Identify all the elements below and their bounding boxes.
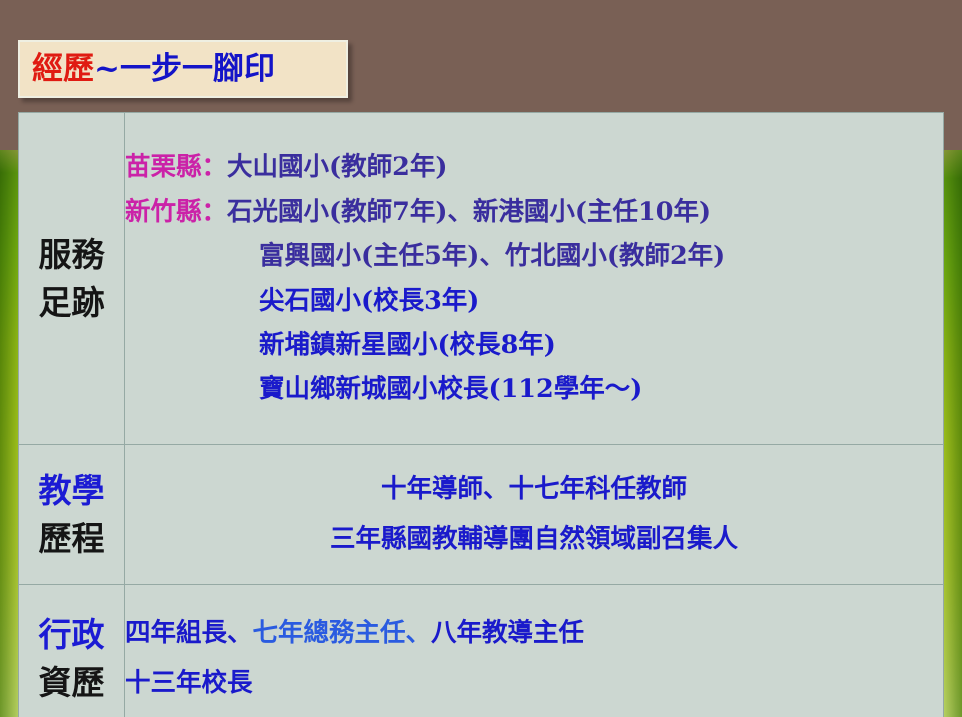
table-row: 教學歷程十年導師、十七年科任教師三年縣國教輔導團自然領域副召集人 [19, 445, 944, 585]
content-line: 四年組長、七年總務主任、八年教導主任 [125, 609, 943, 659]
row-content-cell: 四年組長、七年總務主任、八年教導主任十三年校長 [125, 585, 944, 717]
content-segment: 三年縣國教輔導團自然領域副召集人 [330, 524, 738, 554]
content-segment: 富興國小(主任5年)、竹北國小(教師2年) [259, 241, 725, 271]
content-segment: 新埔鎮新星國小(校長8年) [259, 330, 556, 360]
row-label-line: 資歷 [19, 659, 124, 707]
content-segment: 寶山鄉新城國小校長(112學年～) [259, 374, 642, 404]
content-segment: 八年教導主任 [431, 618, 584, 648]
content-line: 苗栗縣：大山國小(教師2年) [125, 145, 943, 189]
content-line: 十三年校長 [125, 659, 943, 709]
row-label-line: 服務 [19, 231, 124, 279]
slide-title-banner: 經歷~一步一腳印 [18, 40, 348, 98]
row-label-cell: 教學歷程 [19, 445, 125, 585]
content-line: 新竹縣：石光國小(教師7年)、新港國小(主任10年) [125, 190, 943, 234]
content-line: 尖石國小(校長3年) [125, 279, 943, 323]
content-segment: 七年總務主任、 [253, 618, 432, 648]
content-line: 十年導師、十七年科任教師 [125, 465, 943, 515]
content-segment: 十三年校長 [125, 668, 253, 698]
content-segment: 石光國小(教師7年)、新港國小(主任10年) [227, 197, 711, 227]
row-content-cell: 十年導師、十七年科任教師三年縣國教輔導團自然領域副召集人 [125, 445, 944, 585]
content-segment: 新竹縣： [125, 197, 227, 227]
content-line: 富興國小(主任5年)、竹北國小(教師2年) [125, 234, 943, 278]
row-label-line: 足跡 [19, 279, 124, 327]
title-text-red: 經歷 [32, 54, 94, 85]
row-label-line: 歷程 [19, 515, 124, 563]
title-text-blue: ~一步一腳印 [94, 54, 275, 85]
content-line: 三年縣國教輔導團自然領域副召集人 [125, 515, 943, 565]
row-label-cell: 服務足跡 [19, 113, 125, 445]
content-segment: 苗栗縣： [125, 152, 227, 182]
table-row: 服務足跡苗栗縣：大山國小(教師2年)新竹縣：石光國小(教師7年)、新港國小(主任… [19, 113, 944, 445]
content-line: 新埔鎮新星國小(校長8年) [125, 323, 943, 367]
row-content-cell: 苗栗縣：大山國小(教師2年)新竹縣：石光國小(教師7年)、新港國小(主任10年)… [125, 113, 944, 445]
table-row: 行政資歷四年組長、七年總務主任、八年教導主任十三年校長 [19, 585, 944, 717]
experience-table: 服務足跡苗栗縣：大山國小(教師2年)新竹縣：石光國小(教師7年)、新港國小(主任… [18, 112, 944, 717]
content-segment: 尖石國小(校長3年) [259, 286, 479, 316]
content-segment: 大山國小(教師2年) [227, 152, 447, 182]
row-label-line: 教學 [19, 467, 124, 515]
row-label-line: 行政 [19, 611, 124, 659]
row-label-cell: 行政資歷 [19, 585, 125, 717]
content-line: 寶山鄉新城國小校長(112學年～) [125, 367, 943, 411]
content-segment: 十年導師、十七年科任教師 [381, 474, 687, 504]
content-segment: 四年組長、 [125, 618, 253, 648]
